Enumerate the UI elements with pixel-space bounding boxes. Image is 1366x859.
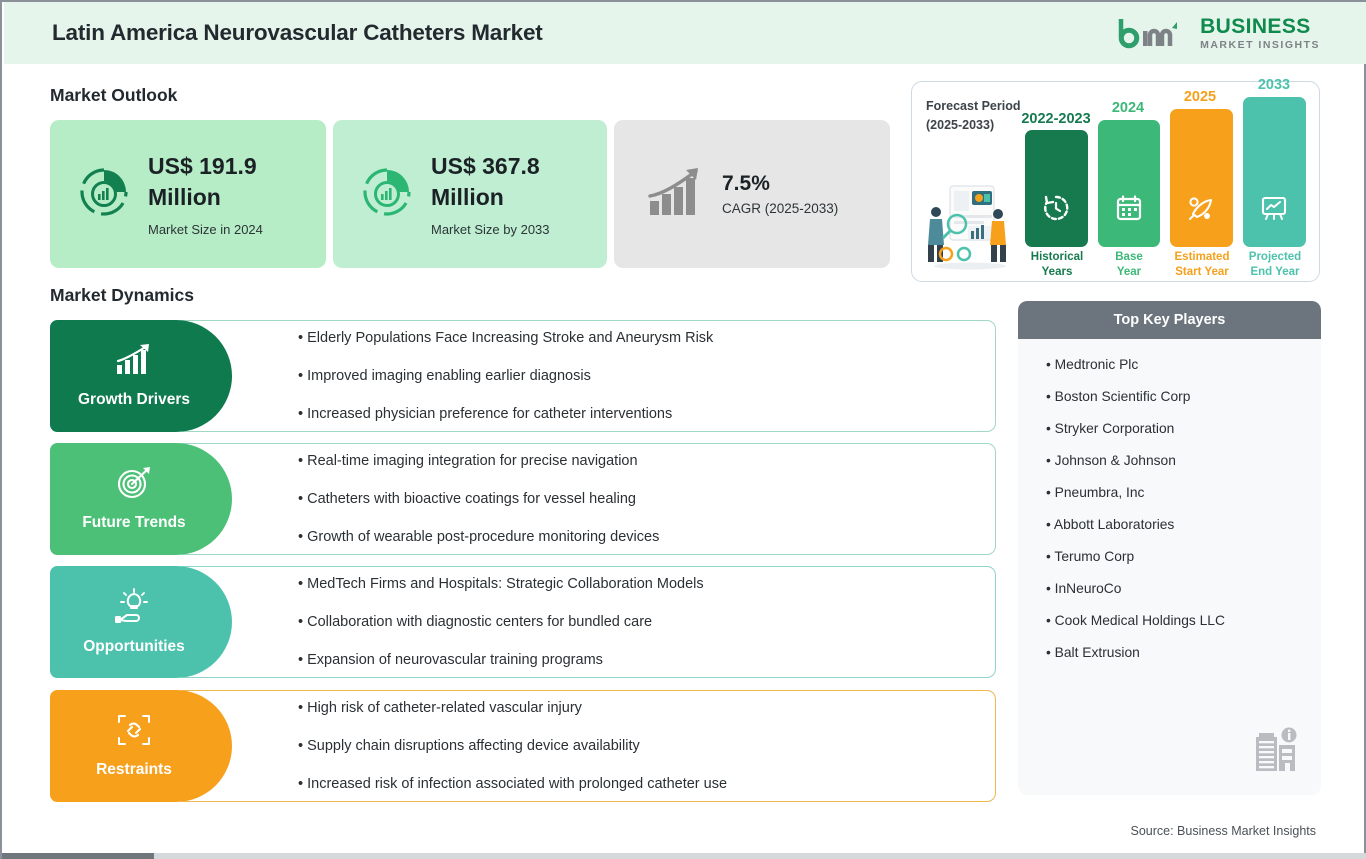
bullet-item: MedTech Firms and Hospitals: Strategic C… bbox=[298, 576, 704, 592]
kpi-card-market-size-2024: US$ 191.9 Million Market Size in 2024 bbox=[50, 120, 326, 268]
kpi-unit: Million bbox=[148, 182, 263, 213]
top-key-players-heading: Top Key Players bbox=[1018, 301, 1321, 339]
broken-chain-icon bbox=[116, 713, 152, 752]
chart-tick-label-1: 2024 bbox=[1088, 100, 1168, 116]
list-item: Medtronic Plc bbox=[1046, 357, 1321, 372]
chart-bar-0 bbox=[1025, 130, 1088, 247]
chart-category-1: BaseYear bbox=[1094, 250, 1164, 279]
list-item: Johnson & Johnson bbox=[1046, 453, 1321, 468]
kpi-label: Market Size in 2024 bbox=[148, 222, 263, 237]
list-item: Cook Medical Holdings LLC bbox=[1046, 613, 1321, 628]
kpi-card-market-size-2033: US$ 367.8 Million Market Size by 2033 bbox=[333, 120, 607, 268]
forecast-title: Forecast Period (2025-2033) bbox=[926, 97, 1020, 136]
bullet-item: Expansion of neurovascular training prog… bbox=[298, 652, 704, 668]
kpi-value: US$ 191.9 bbox=[148, 151, 263, 182]
growth-bar-chart-icon bbox=[646, 165, 708, 224]
kpi-unit: Million bbox=[431, 182, 550, 213]
dynamics-badge-future-trends: Future Trends bbox=[50, 443, 232, 555]
list-item: Balt Extrusion bbox=[1046, 645, 1321, 660]
market-dynamics-heading: Market Dynamics bbox=[50, 285, 194, 306]
logo-main-text: BUSINESS bbox=[1200, 16, 1320, 37]
brand-logo: BUSINESS MARKET INSIGHTS bbox=[1117, 16, 1320, 51]
bmi-logo-icon bbox=[1117, 16, 1191, 50]
chart-tick-label-2: 2025 bbox=[1160, 89, 1240, 105]
bullet-item: High risk of catheter-related vascular i… bbox=[298, 700, 727, 716]
bullet-item: Growth of wearable post-procedure monito… bbox=[298, 529, 659, 545]
cagr-label: CAGR (2025-2033) bbox=[722, 201, 838, 216]
dynamics-label: Future Trends bbox=[82, 514, 185, 532]
dynamics-row-future-trends: Future Trends Real-time imaging integrat… bbox=[50, 443, 996, 555]
chart-bar-2 bbox=[1170, 109, 1233, 247]
chart-bar-3 bbox=[1243, 97, 1306, 247]
list-item: Boston Scientific Corp bbox=[1046, 389, 1321, 404]
dynamics-label: Opportunities bbox=[83, 638, 185, 656]
logo-sub-text: MARKET INSIGHTS bbox=[1200, 40, 1320, 51]
company-info-icon bbox=[1254, 727, 1298, 773]
dynamics-row-growth-drivers: Growth Drivers Elderly Populations Face … bbox=[50, 320, 996, 432]
chart-bar-1 bbox=[1098, 120, 1160, 247]
kpi-label: Market Size by 2033 bbox=[431, 222, 550, 237]
kpi-value: US$ 367.8 bbox=[431, 151, 550, 182]
bullet-item: Collaboration with diagnostic centers fo… bbox=[298, 614, 704, 630]
list-item: Pneumbra, Inc bbox=[1046, 485, 1321, 500]
chart-tick-label-3: 2033 bbox=[1234, 77, 1314, 93]
presentation-chart-icon bbox=[1260, 194, 1288, 222]
rocket-growth-icon bbox=[1187, 194, 1215, 222]
dynamics-badge-growth-drivers: Growth Drivers bbox=[50, 320, 232, 432]
page-header: Latin America Neurovascular Catheters Ma… bbox=[4, 2, 1366, 64]
dynamics-bullet-list: High risk of catheter-related vascular i… bbox=[298, 690, 727, 802]
bullet-item: Increased risk of infection associated w… bbox=[298, 776, 727, 792]
chart-category-2: EstimatedStart Year bbox=[1161, 250, 1243, 279]
bullet-item: Real-time imaging integration for precis… bbox=[298, 453, 659, 469]
scrollbar-thumb[interactable] bbox=[2, 853, 154, 859]
list-item: Abbott Laboratories bbox=[1046, 517, 1321, 532]
dynamics-bullet-list: Elderly Populations Face Increasing Stro… bbox=[298, 320, 713, 432]
report-infographic: Latin America Neurovascular Catheters Ma… bbox=[0, 0, 1366, 859]
forecast-period-chart: Forecast Period (2025-2033) bbox=[911, 81, 1320, 282]
calendar-icon bbox=[1115, 194, 1143, 222]
cagr-value: 7.5% bbox=[722, 172, 838, 196]
top-key-players-panel: Top Key Players Medtronic Plc Boston Sci… bbox=[1018, 301, 1321, 795]
bullet-item: Increased physician preference for cathe… bbox=[298, 406, 713, 422]
kpi-card-cagr: 7.5% CAGR (2025-2033) bbox=[614, 120, 890, 268]
list-item: InNeuroCo bbox=[1046, 581, 1321, 596]
bullet-item: Elderly Populations Face Increasing Stro… bbox=[298, 330, 713, 346]
dynamics-row-restraints: Restraints High risk of catheter-related… bbox=[50, 690, 996, 802]
donut-chart-icon bbox=[359, 164, 415, 225]
key-players-list: Medtronic Plc Boston Scientific Corp Str… bbox=[1018, 339, 1321, 660]
bullet-item: Catheters with bioactive coatings for ve… bbox=[298, 491, 659, 507]
source-text: Source: Business Market Insights bbox=[1131, 824, 1317, 838]
donut-chart-icon bbox=[76, 164, 132, 225]
history-clock-icon bbox=[1042, 194, 1070, 222]
target-dart-icon bbox=[115, 466, 153, 505]
page-title: Latin America Neurovascular Catheters Ma… bbox=[52, 20, 543, 46]
market-outlook-heading: Market Outlook bbox=[50, 85, 177, 106]
dynamics-row-opportunities: Opportunities MedTech Firms and Hospital… bbox=[50, 566, 996, 678]
team-analytics-illustration bbox=[924, 178, 1016, 270]
list-item: Terumo Corp bbox=[1046, 549, 1321, 564]
bullet-item: Supply chain disruptions affecting devic… bbox=[298, 738, 727, 754]
dynamics-label: Growth Drivers bbox=[78, 391, 190, 409]
horizontal-scrollbar[interactable] bbox=[2, 853, 1366, 859]
lightbulb-hand-icon bbox=[114, 588, 154, 629]
list-item: Stryker Corporation bbox=[1046, 421, 1321, 436]
dynamics-bullet-list: Real-time imaging integration for precis… bbox=[298, 443, 659, 555]
dynamics-badge-restraints: Restraints bbox=[50, 690, 232, 802]
dynamics-bullet-list: MedTech Firms and Hospitals: Strategic C… bbox=[298, 566, 704, 678]
dynamics-label: Restraints bbox=[96, 761, 172, 779]
bar-chart-arrow-icon bbox=[114, 343, 154, 382]
bullet-item: Improved imaging enabling earlier diagno… bbox=[298, 368, 713, 384]
dynamics-badge-opportunities: Opportunities bbox=[50, 566, 232, 678]
chart-category-0: HistoricalYears bbox=[1017, 250, 1097, 279]
chart-category-3: ProjectedEnd Year bbox=[1235, 250, 1315, 279]
